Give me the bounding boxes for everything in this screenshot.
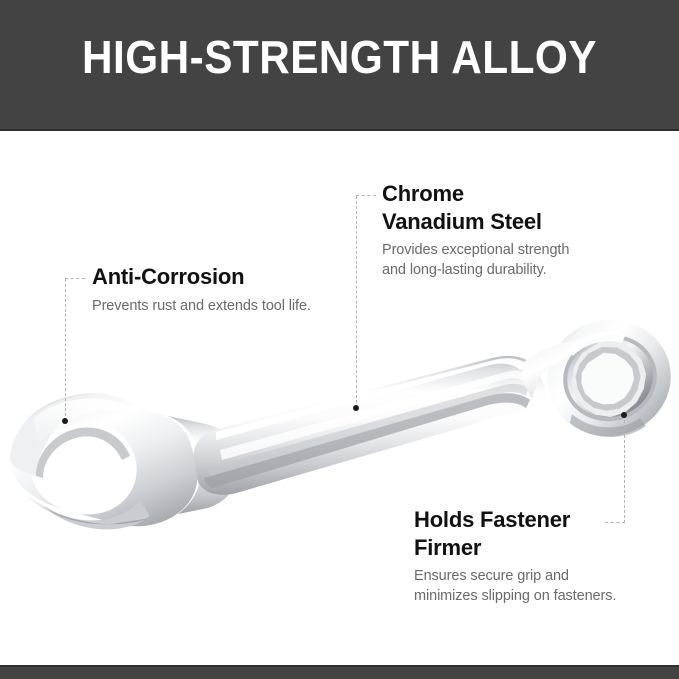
callout-anti-corrosion-title: Anti-Corrosion: [92, 263, 342, 291]
callout-chrome-vanadium: Chrome Vanadium Steel Provides exception…: [382, 180, 612, 280]
callout-holds-fastener-description-line2: minimizes slipping on fasteners.: [414, 587, 664, 606]
leader-dot-chrome-vanadium: [353, 405, 359, 411]
callout-holds-fastener-title-line1: Holds Fastener: [414, 506, 664, 534]
callout-chrome-vanadium-description-line2: and long-lasting durability.: [382, 261, 612, 280]
callout-holds-fastener-title-line2: Firmer: [414, 534, 664, 562]
callout-anti-corrosion-description: Prevents rust and extends tool life.: [92, 297, 342, 316]
callout-chrome-vanadium-description-line1: Provides exceptional strength: [382, 241, 612, 260]
header-banner: HIGH-STRENGTH ALLOY: [0, 0, 679, 131]
callout-holds-fastener-description-line1: Ensures secure grip and: [414, 567, 664, 586]
leader-dot-anti-corrosion: [62, 418, 68, 424]
callout-chrome-vanadium-title-line1: Chrome: [382, 180, 612, 208]
leader-line-anti-corrosion-vertical: [65, 279, 66, 421]
callout-chrome-vanadium-title-line2: Vanadium Steel: [382, 208, 612, 236]
leader-line-chrome-vanadium-horizontal: [356, 195, 376, 196]
page-title: HIGH-STRENGTH ALLOY: [27, 33, 652, 83]
product-infographic: HIGH-STRENGTH ALLOY: [0, 0, 679, 679]
box-end-head: [522, 310, 679, 449]
footer-banner: [0, 665, 679, 679]
wrench-shaft: [194, 356, 546, 495]
leader-dot-holds-fastener: [621, 412, 627, 418]
leader-line-chrome-vanadium-vertical: [356, 196, 357, 408]
callout-anti-corrosion: Anti-Corrosion Prevents rust and extends…: [92, 263, 342, 316]
leader-line-anti-corrosion-horizontal: [65, 278, 85, 279]
callout-holds-fastener: Holds Fastener Firmer Ensures secure gri…: [414, 506, 664, 606]
